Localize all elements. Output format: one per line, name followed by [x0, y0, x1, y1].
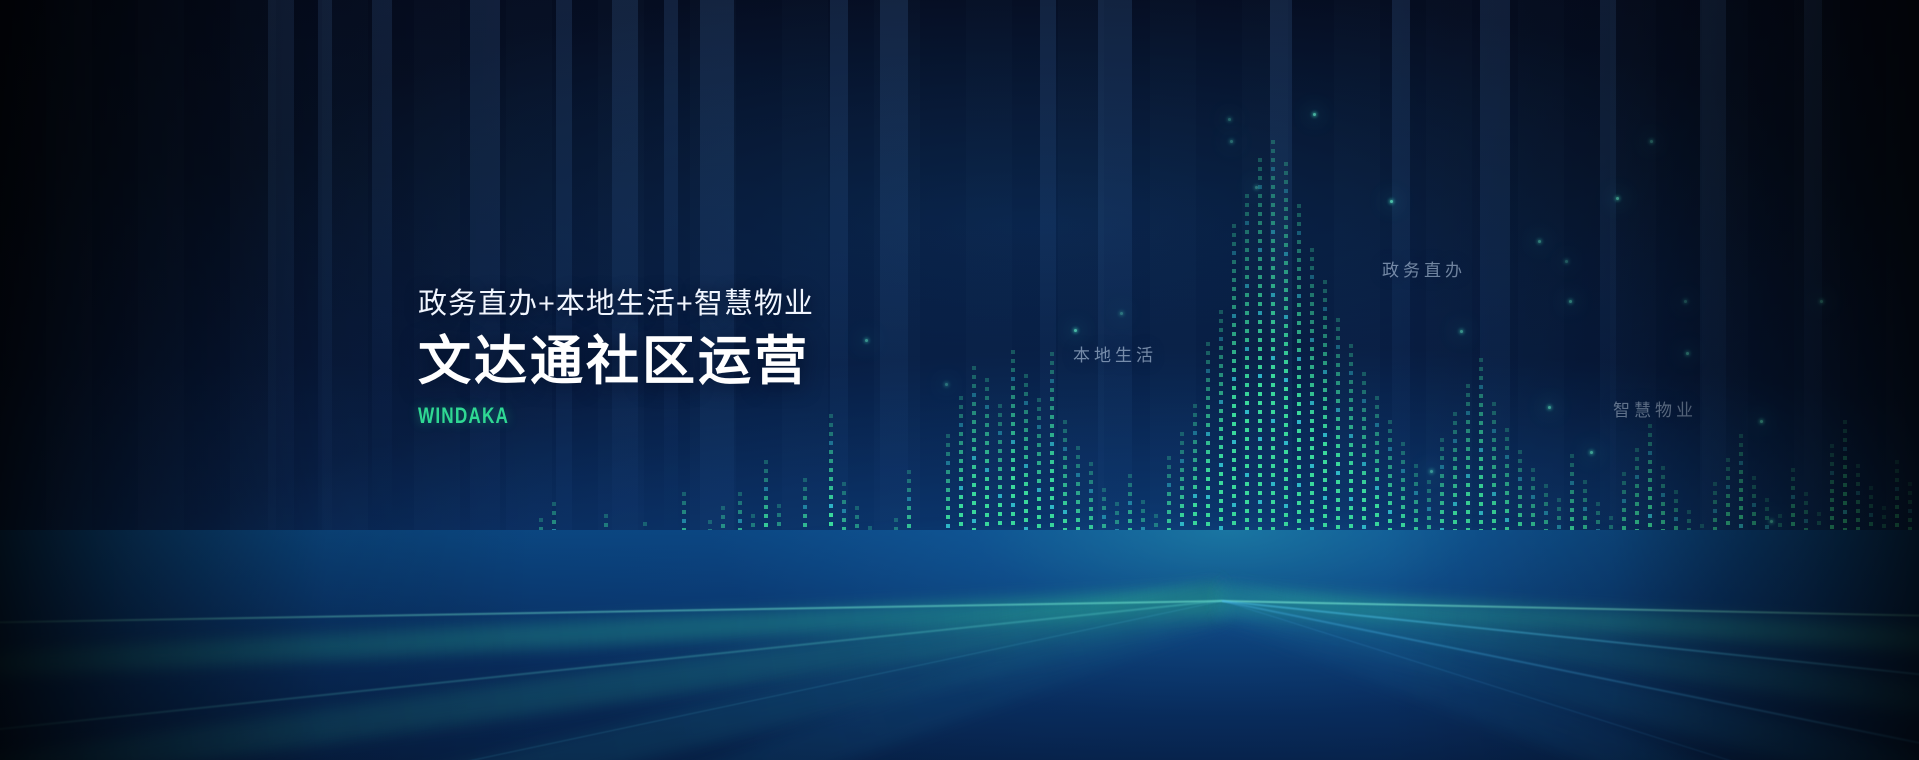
headline-block: 政务直办+本地生活+智慧物业 文达通社区运营 WINDAKA: [418, 288, 814, 429]
ground-plane: [0, 530, 1919, 760]
skyline-label-2: 本地生活: [1073, 341, 1157, 366]
banner-title: 文达通社区运营: [418, 333, 814, 391]
brand-wordmark: WINDAKA: [418, 403, 727, 429]
hero-banner: 政务直办本地生活智慧物业 政务直办+本地生活+智慧物业 文达通社区运营 WIND…: [0, 0, 1919, 760]
skyline-label-1: 政务直办: [1382, 256, 1466, 281]
banner-subtitle: 政务直办+本地生活+智慧物业: [418, 288, 814, 321]
skyline-label-3: 智慧物业: [1613, 396, 1697, 421]
